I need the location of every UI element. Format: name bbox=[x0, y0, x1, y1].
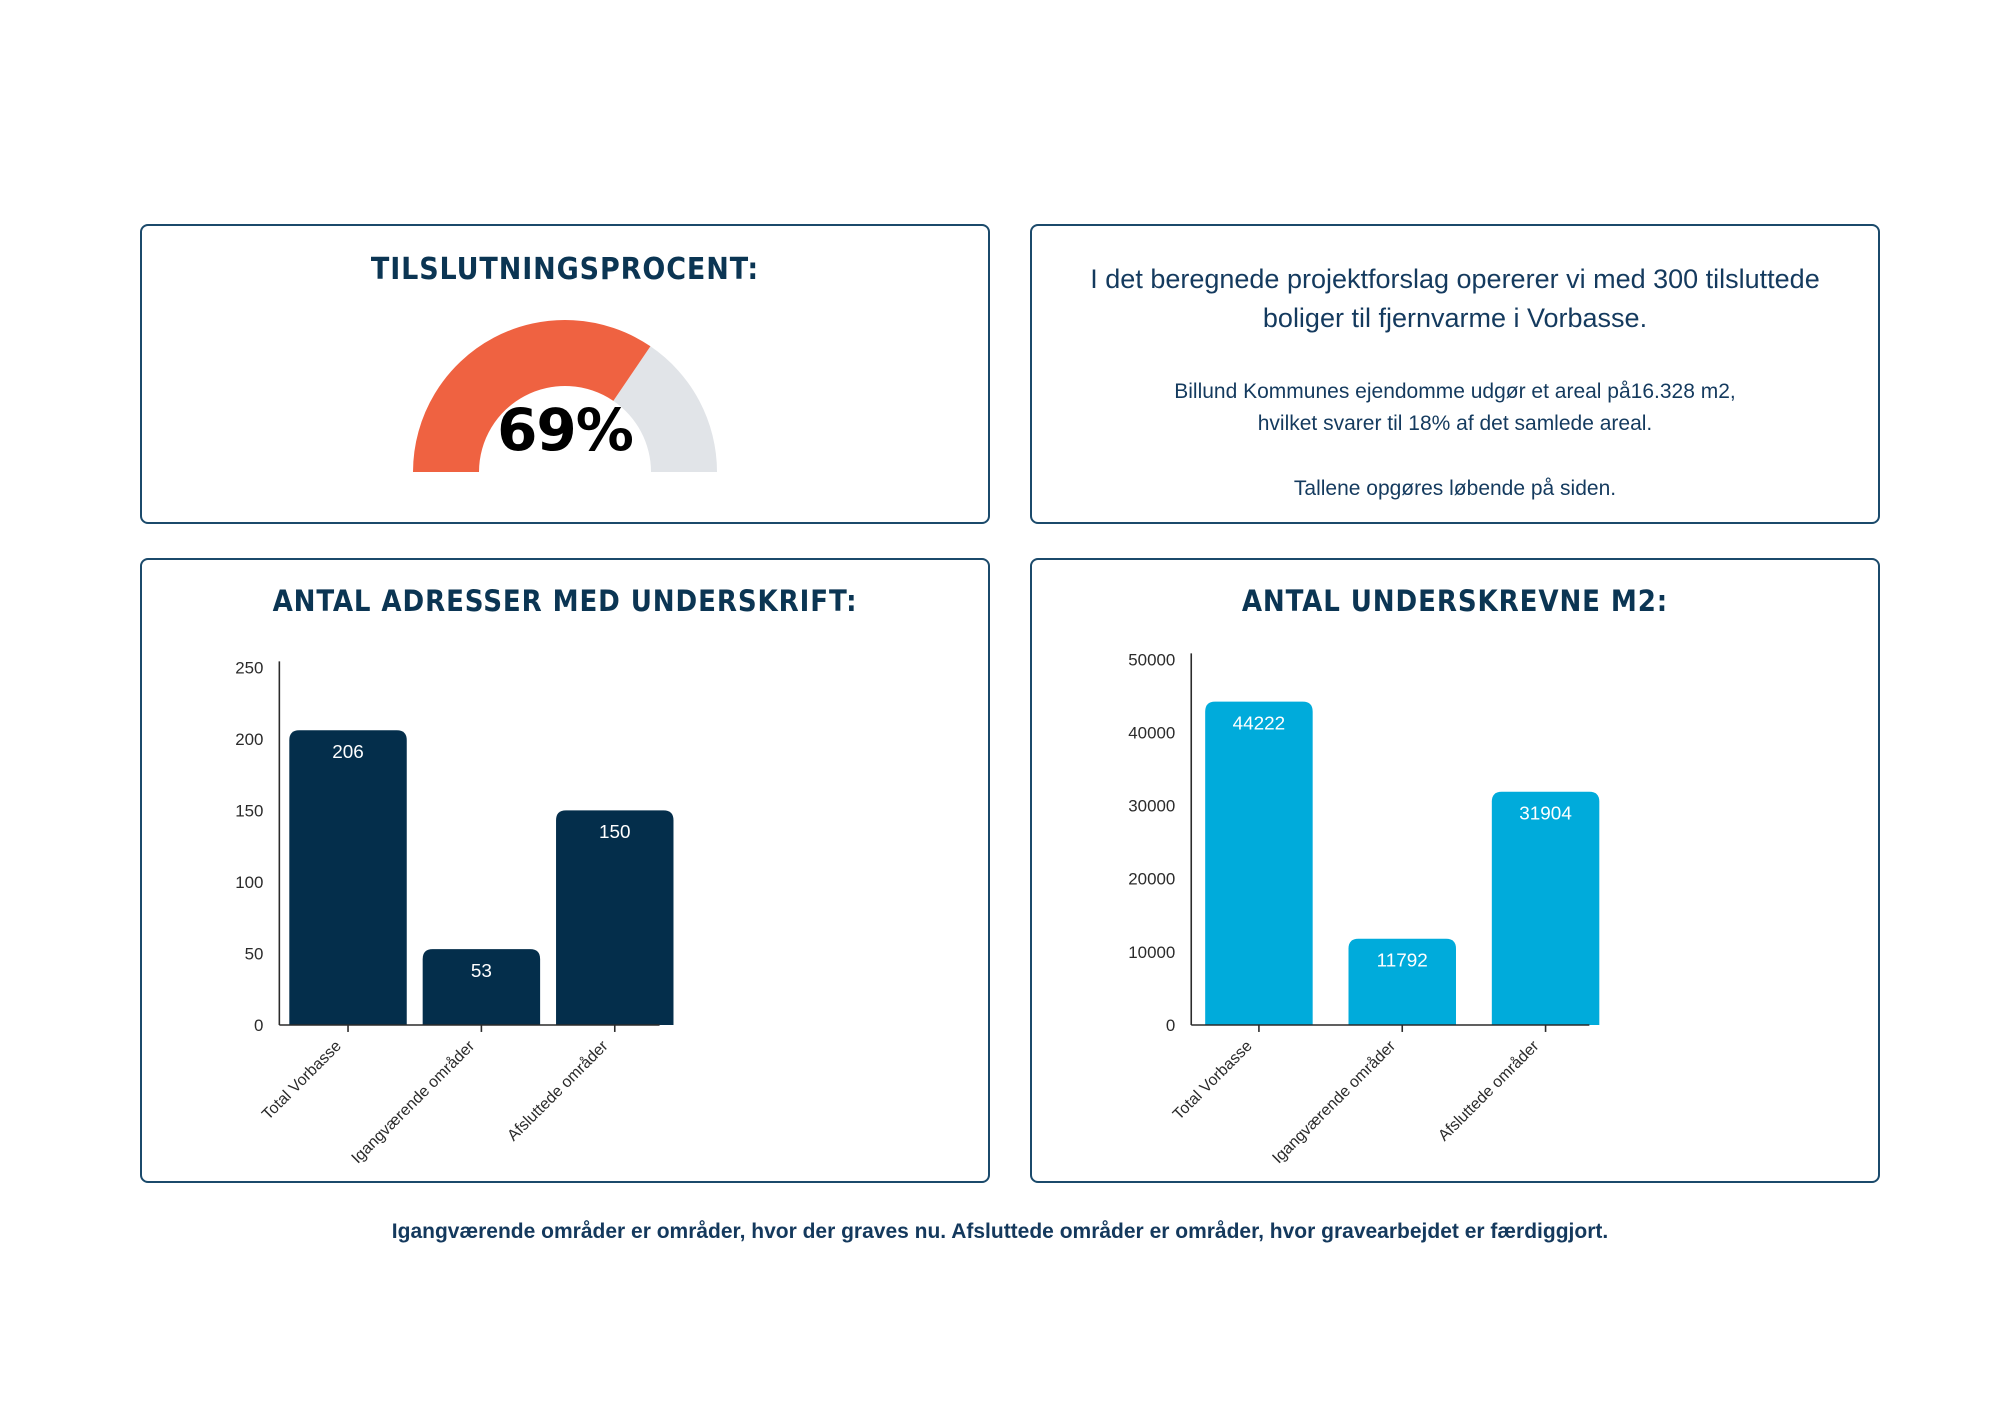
svg-text:0: 0 bbox=[1166, 1016, 1175, 1035]
svg-text:11792: 11792 bbox=[1377, 951, 1428, 972]
info-area-block: Billund Kommunes ejendomme udgør et area… bbox=[1078, 376, 1832, 439]
svg-text:20000: 20000 bbox=[1128, 870, 1175, 889]
svg-text:Igangværende områder: Igangværende områder bbox=[1269, 1036, 1400, 1167]
svg-text:250: 250 bbox=[235, 658, 263, 677]
svg-text:206: 206 bbox=[332, 742, 364, 763]
svg-text:200: 200 bbox=[235, 730, 263, 749]
svg-text:Igangværende områder: Igangværende områder bbox=[348, 1036, 479, 1167]
svg-text:44222: 44222 bbox=[1233, 713, 1286, 734]
tilslutningsprocent-card: TILSLUTNINGSPROCENT: 69% bbox=[140, 224, 990, 524]
svg-text:150: 150 bbox=[235, 801, 263, 820]
chart-plot-addresses: 050100150200250206Total Vorbasse53Igangv… bbox=[142, 560, 988, 1181]
info-area-line-1: Billund Kommunes ejendomme udgør et area… bbox=[1078, 376, 1832, 408]
info-area-line-2: hvilket svarer til 18% af det samlede ar… bbox=[1078, 408, 1832, 440]
svg-text:30000: 30000 bbox=[1128, 797, 1175, 816]
svg-text:100: 100 bbox=[235, 873, 263, 892]
footer-note: Igangværende områder er områder, hvor de… bbox=[0, 1220, 2000, 1244]
svg-text:Total Vorbasse: Total Vorbasse bbox=[1170, 1038, 1256, 1124]
gauge-card-title: TILSLUTNINGSPROCENT: bbox=[142, 252, 988, 287]
bar-chart-addresses: 050100150200250206Total Vorbasse53Igangv… bbox=[142, 560, 988, 1181]
svg-text:50: 50 bbox=[245, 944, 264, 963]
svg-text:50000: 50000 bbox=[1128, 650, 1175, 669]
svg-text:40000: 40000 bbox=[1128, 723, 1175, 742]
gauge-value-label: 69% bbox=[400, 396, 730, 464]
info-lead-text: I det beregnede projektforslag opererer … bbox=[1078, 260, 1832, 338]
dashboard-root: TILSLUTNINGSPROCENT: 69% I det beregnede… bbox=[0, 0, 2000, 1414]
svg-text:53: 53 bbox=[471, 961, 492, 982]
project-info-body: I det beregnede projektforslag opererer … bbox=[1032, 226, 1878, 505]
svg-text:31904: 31904 bbox=[1519, 804, 1572, 825]
chart-plot-square-meters: 0100002000030000400005000044222Total Vor… bbox=[1032, 560, 1878, 1181]
antal-adresser-card: ANTAL ADRESSER MED UNDERSKRIFT: 05010015… bbox=[140, 558, 990, 1183]
project-info-card: I det beregnede projektforslag opererer … bbox=[1030, 224, 1880, 524]
antal-underskrevne-m2-card: ANTAL UNDERSKREVNE M2: 01000020000300004… bbox=[1030, 558, 1880, 1183]
tilslutningsprocent-gauge: 69% bbox=[400, 304, 730, 494]
svg-text:0: 0 bbox=[254, 1016, 263, 1035]
info-update-note: Tallene opgøres løbende på siden. bbox=[1078, 473, 1832, 505]
svg-text:Afsluttede områder: Afsluttede områder bbox=[1435, 1036, 1543, 1144]
svg-text:Afsluttede områder: Afsluttede områder bbox=[504, 1036, 612, 1144]
bar-chart-square-meters: 0100002000030000400005000044222Total Vor… bbox=[1032, 560, 1878, 1181]
svg-text:150: 150 bbox=[599, 822, 631, 843]
svg-text:Total Vorbasse: Total Vorbasse bbox=[259, 1038, 345, 1124]
svg-text:10000: 10000 bbox=[1128, 943, 1175, 962]
